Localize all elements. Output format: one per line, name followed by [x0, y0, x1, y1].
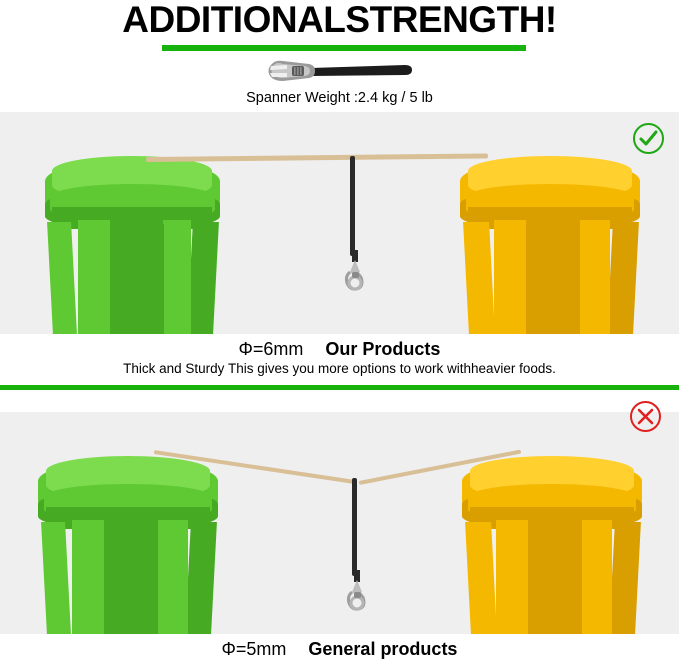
product-label-bottom: General products	[286, 639, 457, 659]
title-underline	[162, 45, 526, 51]
photo-panel-our-products	[0, 112, 679, 334]
page-title: ADDITIONALSTRENGTH!	[0, 0, 679, 42]
cross-badge	[630, 401, 661, 432]
product-label-top: Our Products	[303, 339, 440, 359]
caption-general-products: Φ=5mmGeneral products	[0, 638, 679, 660]
section-divider	[0, 385, 679, 390]
header: ADDITIONALSTRENGTH! Spanner Weight :2.4 …	[0, 0, 679, 112]
photo-panel-general-products	[0, 412, 679, 634]
skewer-stick-thick	[146, 153, 488, 162]
diameter-label-bottom: Φ=5mm	[222, 639, 287, 659]
caption-our-products: Φ=6mmOur Products	[0, 338, 679, 360]
spanner-weight-caption: Spanner Weight :2.4 kg / 5 lb	[0, 89, 679, 107]
check-badge	[633, 123, 664, 154]
wrench-icon	[265, 57, 415, 85]
diameter-label-top: Φ=6mm	[239, 339, 304, 359]
description-top: Thick and Sturdy This gives you more opt…	[0, 360, 679, 378]
